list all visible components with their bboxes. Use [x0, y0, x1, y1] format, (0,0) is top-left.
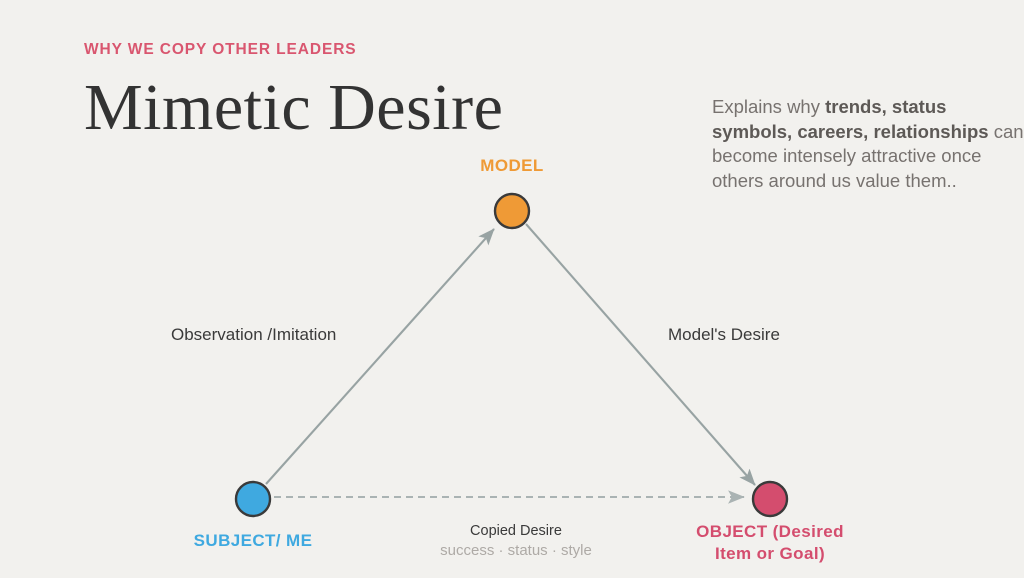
- edge-observation-imitation: [266, 229, 494, 484]
- mimetic-desire-diagram: [0, 0, 1024, 578]
- edge-label-copied-desire: Copied Desire success · status · style: [440, 523, 592, 559]
- node-label-object-line2: Item or Goal): [715, 544, 825, 563]
- node-model[interactable]: [495, 194, 529, 228]
- edge-label-models-desire: Model's Desire: [668, 325, 780, 345]
- node-label-subject: SUBJECT/ ME: [194, 531, 313, 551]
- edge-models-desire: [526, 224, 755, 485]
- slide-canvas: WHY WE COPY OTHER LEADERS Mimetic Desire…: [0, 0, 1024, 578]
- node-label-object-line1: OBJECT (Desired: [696, 522, 844, 541]
- node-label-model: MODEL: [480, 156, 543, 176]
- node-subject[interactable]: [236, 482, 270, 516]
- node-label-object: OBJECT (Desired Item or Goal): [696, 521, 844, 566]
- node-object[interactable]: [753, 482, 787, 516]
- edge-label-copied-desire-primary: Copied Desire: [440, 523, 592, 539]
- edge-label-copied-desire-sublabel: success · status · style: [440, 542, 592, 559]
- edge-label-observation-imitation: Observation /Imitation: [171, 325, 336, 345]
